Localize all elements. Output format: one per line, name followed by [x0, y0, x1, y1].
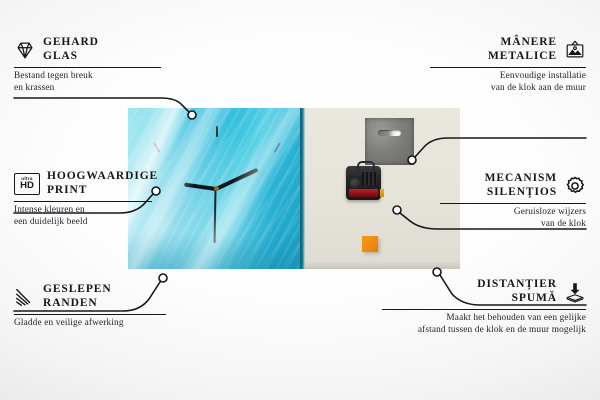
clock-minute-hand	[215, 167, 258, 190]
feature-subtitle-line2: afstand tussen de klok en de muur mogeli…	[382, 325, 586, 337]
feature-mecanism-silentios: MECANISM SILENȚIOS Geruisloze wijzers va…	[440, 172, 586, 231]
feature-title: GESLEPEN RANDEN	[43, 283, 112, 310]
clock-tick	[216, 126, 218, 137]
feature-distantier-spuma: DISTANȚIER SPUMĂ Maakt het behouden van …	[382, 278, 586, 337]
feature-subtitle-line1: Eenvoudige installatie	[430, 71, 586, 83]
leader-endpoint	[433, 268, 441, 276]
feature-hoogwaardige-print: ultra HD HOOGWAARDIGE PRINT Intense kleu…	[14, 170, 184, 229]
feature-geslepen-randen: GESLEPEN RANDEN Gladde en veilige afwerk…	[14, 283, 174, 330]
diamond-icon	[14, 39, 36, 61]
clock-mechanism-part	[346, 166, 381, 200]
feature-divider	[430, 67, 586, 68]
feature-subtitle-line1: Bestand tegen breuk	[14, 71, 169, 83]
leader-endpoint	[159, 274, 167, 282]
feature-heading: MECANISM SILENȚIOS	[440, 172, 586, 199]
mechanism-ridges	[362, 172, 377, 185]
clock-tick	[274, 142, 281, 153]
infographic-canvas: GEHARD GLAS Bestand tegen breuk en krass…	[0, 0, 600, 400]
feature-subtitle-line2: en krassen	[14, 83, 169, 95]
gear-icon	[564, 175, 586, 197]
foam-spacer-icon	[564, 281, 586, 303]
feature-title: DISTANȚIER SPUMĂ	[477, 278, 557, 305]
feature-gehard-glas: GEHARD GLAS Bestand tegen breuk en krass…	[14, 36, 169, 95]
feature-heading: ultra HD HOOGWAARDIGE PRINT	[14, 170, 184, 197]
feature-title: GEHARD GLAS	[43, 36, 99, 63]
feature-heading: MÂNERE METALICE	[430, 36, 586, 63]
feature-divider	[440, 203, 586, 204]
feature-divider	[14, 314, 166, 315]
panel-seam	[300, 108, 305, 269]
clock-back-photo	[304, 108, 460, 269]
clock-tick	[153, 142, 160, 153]
feature-subtitle-line1: Maakt het behouden van een gelijke	[382, 313, 586, 325]
feature-subtitle-line2: van de klok	[440, 219, 586, 231]
foam-spacer-part	[362, 236, 378, 252]
hanger-slot	[378, 130, 401, 136]
feature-subtitle-line1: Gladde en veilige afwerking	[14, 318, 174, 330]
feature-manere-metalice: MÂNERE METALICE Eenvoudige installatie v…	[430, 36, 586, 95]
clock-hour-hand	[184, 182, 216, 190]
battery-terminal	[380, 189, 384, 197]
hanging-picture-icon	[564, 39, 586, 61]
feature-subtitle-line2: een duidelijk beeld	[14, 217, 184, 229]
feature-heading: GEHARD GLAS	[14, 36, 169, 63]
feature-title: MECANISM SILENȚIOS	[485, 172, 557, 199]
clock-center-pin	[214, 186, 219, 191]
feature-heading: GESLEPEN RANDEN	[14, 283, 174, 310]
feature-divider	[14, 67, 161, 68]
mechanism-loop	[357, 161, 375, 171]
feature-heading: DISTANȚIER SPUMĂ	[382, 278, 586, 305]
feature-divider	[382, 309, 586, 310]
feature-title: MÂNERE METALICE	[488, 36, 557, 63]
metal-hanger-part	[365, 118, 414, 165]
feature-subtitle-line1: Intense kleuren en	[14, 205, 184, 217]
beveled-edge-icon	[14, 286, 36, 308]
ultra-hd-large-text: HD	[20, 181, 34, 191]
feature-title: HOOGWAARDIGE PRINT	[47, 170, 158, 197]
battery-part	[349, 189, 378, 197]
mechanism-dial	[350, 178, 361, 189]
feature-subtitle-line2: van de klok aan de muur	[430, 83, 586, 95]
clock-second-hand	[214, 188, 216, 242]
ultra-hd-icon: ultra HD	[14, 173, 40, 195]
feature-divider	[14, 201, 152, 202]
feature-subtitle-line1: Geruisloze wijzers	[440, 207, 586, 219]
